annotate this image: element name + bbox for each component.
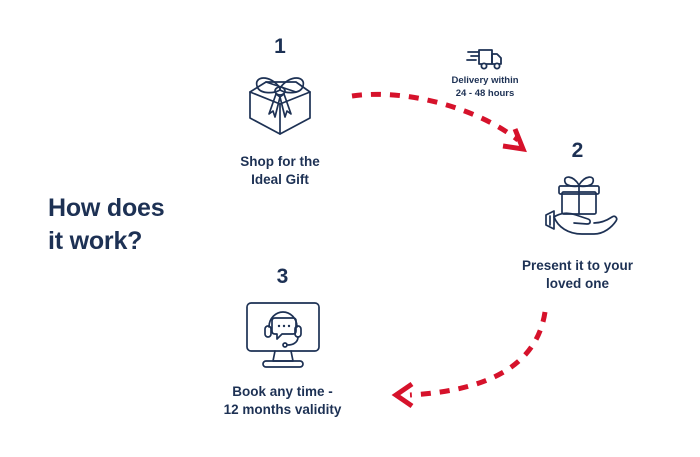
step-3: 3 xyxy=(200,266,365,419)
step-3-number: 3 xyxy=(200,266,365,287)
infographic-canvas: How does it work? 1 xyxy=(0,0,700,457)
step-1: 1 Shop for xyxy=(205,36,355,189)
step-1-caption: Shop for the Ideal Gift xyxy=(205,153,355,189)
delivery-note: Delivery within 24 - 48 hours xyxy=(428,46,542,101)
monitor-headset-support-icon xyxy=(200,293,365,373)
hand-holding-gift-icon xyxy=(500,167,655,247)
page-title-line-1: How does xyxy=(48,192,238,225)
step-3-caption: Book any time - 12 months validity xyxy=(200,383,365,419)
page-title: How does it work? xyxy=(48,192,238,258)
step-2-number: 2 xyxy=(500,140,655,161)
step-1-number: 1 xyxy=(205,36,355,57)
arrow-step1-to-step2 xyxy=(352,94,523,149)
gift-box-icon xyxy=(205,63,355,143)
arrow-step2-to-step3 xyxy=(396,312,545,406)
step-2-caption: Present it to your loved one xyxy=(500,257,655,293)
delivery-truck-icon xyxy=(428,46,542,72)
step-2: 2 Present i xyxy=(500,140,655,293)
delivery-note-text: Delivery within 24 - 48 hours xyxy=(428,75,542,101)
page-title-line-2: it work? xyxy=(48,225,238,258)
